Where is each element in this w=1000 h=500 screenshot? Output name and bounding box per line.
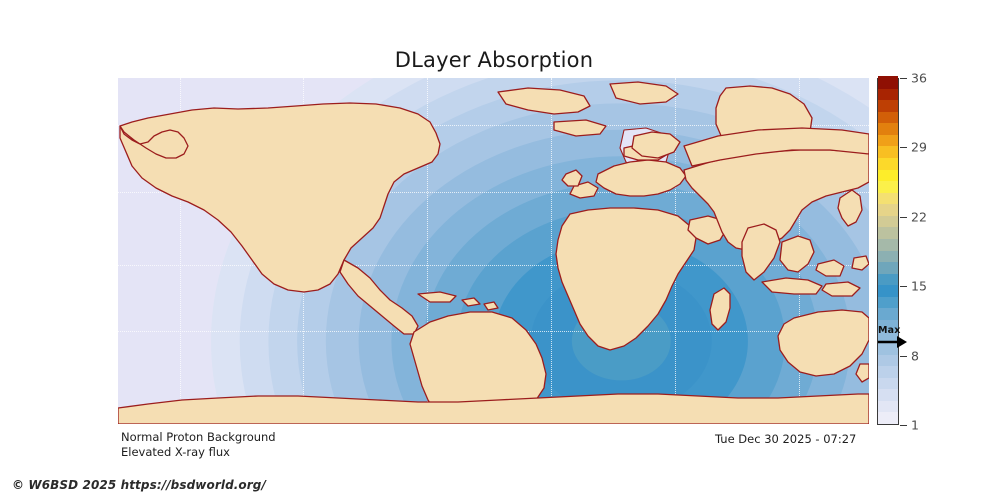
- colorbar-max-marker: Max: [877, 327, 907, 351]
- colorbar-tick-29: [900, 147, 907, 148]
- colorbar-tick-label-8: 8: [911, 348, 919, 363]
- colorbar-band-11: [878, 285, 898, 297]
- colorbar-band-21: [878, 169, 898, 181]
- timestamp: Tue Dec 30 2025 - 07:27: [715, 432, 856, 446]
- colorbar-band-25: [878, 123, 898, 135]
- colorbar-band-16: [878, 227, 898, 239]
- colorbar-band-27: [878, 100, 898, 112]
- colorbar-band-10: [878, 296, 898, 308]
- colorbar-band-20: [878, 181, 898, 193]
- colorbar-band-0: [878, 412, 898, 424]
- colorbar-band-23: [878, 146, 898, 158]
- colorbar-tick-22: [900, 217, 907, 218]
- colorbar-band-18: [878, 204, 898, 216]
- colorbar-tick-36: [900, 78, 907, 79]
- page-title-text: DLayer Absorption: [395, 48, 593, 72]
- colorbar-band-1: [878, 400, 898, 412]
- colorbar-band-29: [878, 76, 898, 88]
- colorbar-band-4: [878, 366, 898, 378]
- colorbar-max-label: Max: [878, 325, 901, 336]
- colorbar-band-24: [878, 134, 898, 146]
- colorbar-band-26: [878, 111, 898, 123]
- colorbar-band-9: [878, 308, 898, 320]
- colorbar-band-12: [878, 273, 898, 285]
- colorbar-band-3: [878, 377, 898, 389]
- footer-credit: © W6BSD 2025 https://bsdworld.org/: [12, 478, 266, 492]
- colorbar-axis-label: Affected Frequency (MHz): [920, 78, 1000, 425]
- colorbar-band-14: [878, 250, 898, 262]
- xray-status: Elevated X-ray flux: [121, 445, 230, 459]
- proton-status: Normal Proton Background: [121, 430, 276, 444]
- colorbar-band-28: [878, 88, 898, 100]
- page-title: DLayer Absorption: [0, 48, 1000, 72]
- colorbar-tick-label-1: 1: [911, 418, 919, 433]
- colorbar-band-2: [878, 389, 898, 401]
- coastlines: [118, 78, 869, 424]
- colorbar-band-22: [878, 157, 898, 169]
- colorbar-tick-8: [900, 356, 907, 357]
- dlayer-absorption-chart: DLayer Absorption: [0, 0, 1000, 500]
- map-axes: [118, 78, 869, 424]
- colorbar-band-15: [878, 238, 898, 250]
- colorbar-gradient: [877, 78, 899, 425]
- colorbar: 1815222936 Max: [877, 78, 899, 425]
- colorbar-tick-15: [900, 286, 907, 287]
- colorbar-tick-1: [900, 425, 907, 426]
- colorbar-band-5: [878, 354, 898, 366]
- colorbar-band-13: [878, 261, 898, 273]
- colorbar-band-19: [878, 192, 898, 204]
- colorbar-band-17: [878, 215, 898, 227]
